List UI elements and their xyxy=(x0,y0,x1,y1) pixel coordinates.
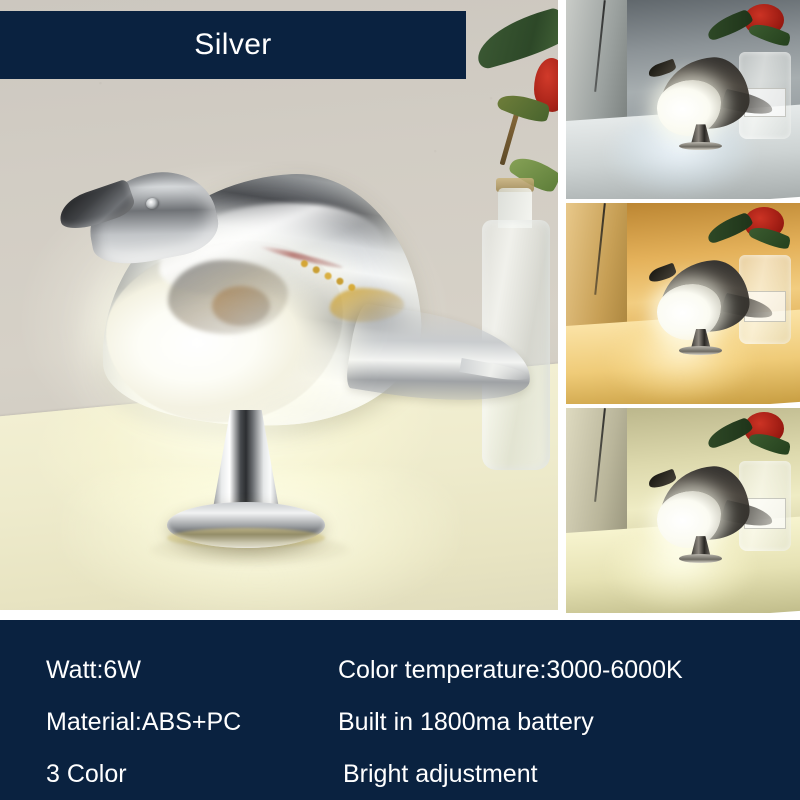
hero-product-photo[interactable] xyxy=(0,0,558,610)
scene xyxy=(566,0,800,199)
thumbnail-natural-white[interactable] xyxy=(566,408,800,613)
spec-color-count: 3 Color xyxy=(46,760,127,789)
scene xyxy=(566,203,800,404)
bird-glowing-belly xyxy=(657,284,722,340)
bird-lamp xyxy=(650,257,758,353)
scene xyxy=(566,408,800,613)
thumbnail-column xyxy=(566,0,800,613)
spec-row: Material:ABS+PC Built in 1800ma battery xyxy=(0,696,800,748)
spec-color-temperature: Color temperature:3000-6000K xyxy=(338,656,683,685)
lamp-base-disc xyxy=(679,142,722,151)
bird-lamp xyxy=(650,54,758,150)
chrome-reflection xyxy=(212,286,270,326)
color-variant-banner[interactable]: Silver xyxy=(0,11,466,79)
specifications-panel: Watt:6W Color temperature:3000-6000K Mat… xyxy=(0,620,800,800)
bird-lamp xyxy=(62,168,522,433)
lamp-base-disc xyxy=(679,554,722,563)
lamp-base-disc xyxy=(679,346,722,355)
thumbnail-warm-amber[interactable] xyxy=(566,203,800,404)
spec-material: Material:ABS+PC xyxy=(46,708,241,737)
bird-lamp xyxy=(650,463,758,561)
lamp-base-ring xyxy=(167,528,325,548)
spec-row: Watt:6W Color temperature:3000-6000K xyxy=(0,644,800,696)
spec-row: 3 Color Bright adjustment xyxy=(0,748,800,800)
spec-watt: Watt:6W xyxy=(46,656,141,685)
product-image-page: Silver xyxy=(0,0,800,800)
color-variant-label: Silver xyxy=(194,28,271,62)
thumbnail-cool-white[interactable] xyxy=(566,0,800,199)
spec-battery: Built in 1800ma battery xyxy=(338,708,594,737)
bird-glowing-belly xyxy=(657,491,722,548)
spec-brightness: Bright adjustment xyxy=(343,760,538,789)
